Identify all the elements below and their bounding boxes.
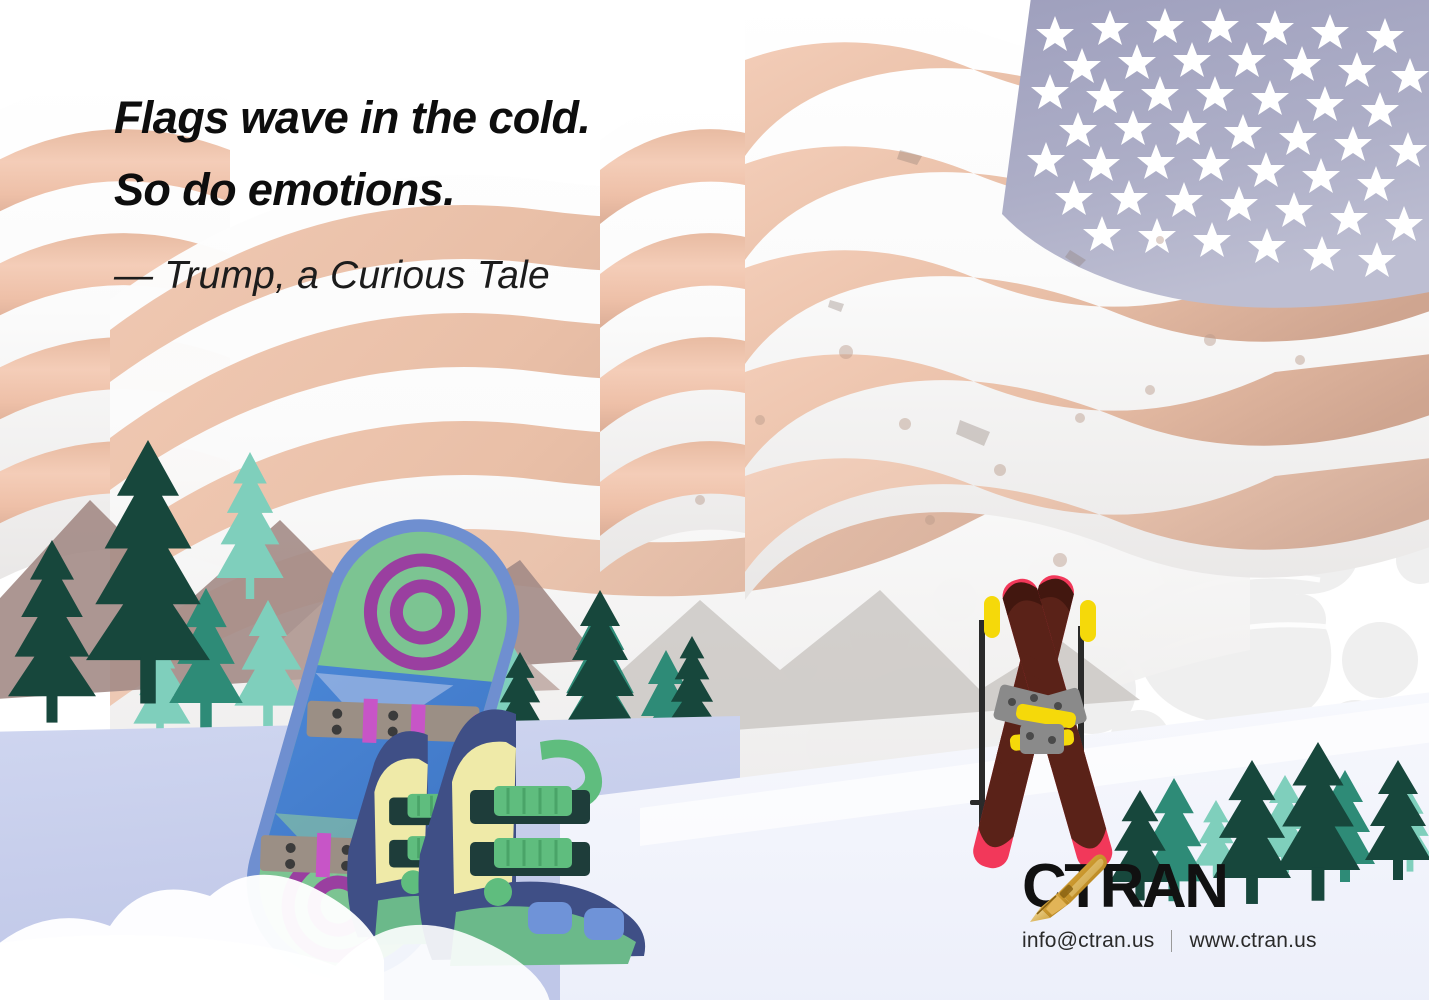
contact-website[interactable]: www.ctran.us <box>1189 928 1316 954</box>
logo-wordmark: CTRAN <box>1022 858 1226 916</box>
contact-row: info@ctran.us www.ctran.us <box>1022 928 1362 954</box>
contact-email[interactable]: info@ctran.us <box>1022 928 1154 954</box>
contact-separator <box>1171 930 1172 952</box>
quote-attribution: — Trump, a Curious Tale <box>114 252 754 300</box>
quote-line-2: So do emotions. <box>114 154 754 226</box>
quote-line-1: Flags wave in the cold. <box>114 82 754 154</box>
logo-row[interactable]: CTRAN <box>1022 858 1362 916</box>
poster-canvas: Flags wave in the cold. So do emotions. … <box>0 0 1429 1000</box>
brand-block: CTRAN <box>1022 858 1362 954</box>
quote-block: Flags wave in the cold. So do emotions. … <box>114 82 754 300</box>
